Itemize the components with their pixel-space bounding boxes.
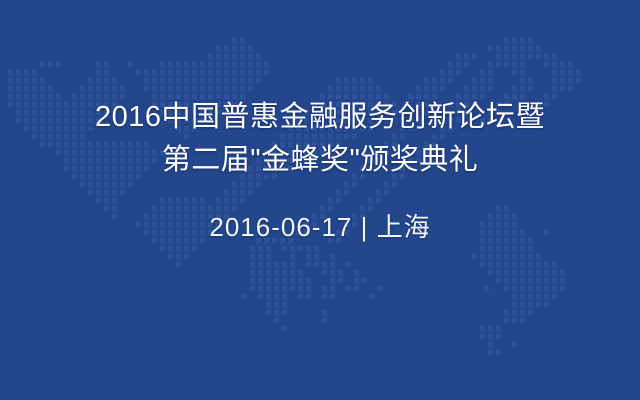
event-date-location: 2016-06-17 | 上海 [209,210,430,244]
event-meta: 2016-06-17 | 上海 [0,210,640,244]
event-title-line-1: 2016中国普惠金融服务创新论坛暨 [0,96,640,139]
event-title-line-2: 第二届"金蜂奖"颁奖典礼 [0,139,640,182]
event-banner: 2016中国普惠金融服务创新论坛暨 第二届"金蜂奖"颁奖典礼 2016-06-1… [0,0,640,400]
banner-content: 2016中国普惠金融服务创新论坛暨 第二届"金蜂奖"颁奖典礼 2016-06-1… [0,0,640,400]
event-title: 2016中国普惠金融服务创新论坛暨 第二届"金蜂奖"颁奖典礼 [0,96,640,182]
